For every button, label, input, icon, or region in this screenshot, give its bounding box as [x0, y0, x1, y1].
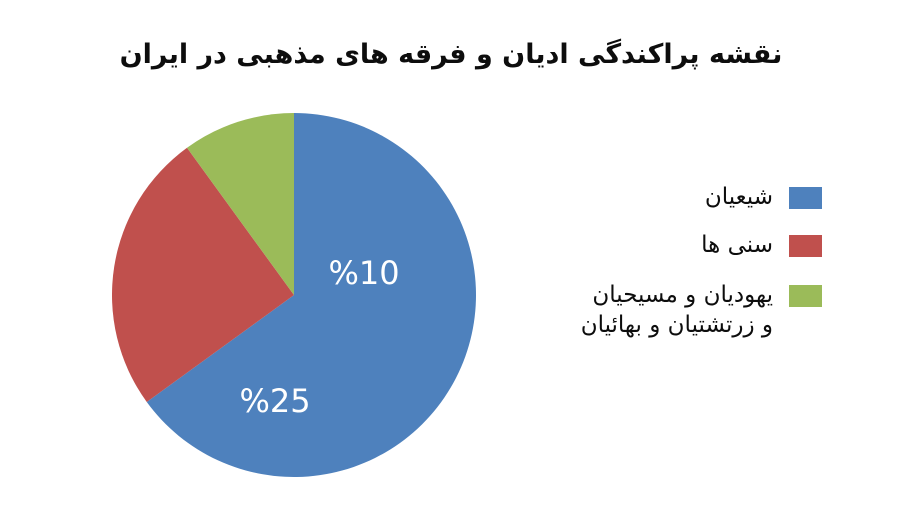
- slice-label-shia: %65: [448, 441, 519, 479]
- pie-chart-figure: نقشه پراکندگی ادیان و فرقه های مذهبی در …: [0, 0, 902, 527]
- legend-swatch-minorities-icon: [789, 285, 822, 307]
- legend-label-line: یهودیان و مسیحیان: [470, 280, 773, 310]
- legend-label-line: سنی ها: [470, 230, 773, 260]
- pie-svg: [112, 113, 476, 477]
- chart-legend: شیعیان سنی ها یهودیان و مسیحیان و زرتشتی…: [470, 180, 822, 348]
- legend-label-line: شیعیان: [470, 182, 773, 212]
- slice-label-sunni: %25: [239, 382, 310, 420]
- legend-label-line: و زرتشتیان و بهائیان: [470, 310, 773, 340]
- legend-item-sunni[interactable]: سنی ها: [470, 228, 822, 278]
- chart-title: نقشه پراکندگی ادیان و فرقه های مذهبی در …: [0, 38, 902, 72]
- legend-label-sunni: سنی ها: [470, 228, 773, 260]
- slice-label-minorities: %10: [328, 254, 399, 292]
- legend-swatch-sunni-icon: [789, 235, 822, 257]
- legend-label-shia: شیعیان: [470, 180, 773, 212]
- legend-label-minorities: یهودیان و مسیحیان و زرتشتیان و بهائیان: [470, 278, 773, 340]
- pie-plot-area: %65 %25 %10: [112, 113, 476, 477]
- legend-item-shia[interactable]: شیعیان: [470, 180, 822, 228]
- pie-slices-group: [112, 113, 476, 477]
- legend-item-minorities[interactable]: یهودیان و مسیحیان و زرتشتیان و بهائیان: [470, 278, 822, 348]
- legend-swatch-shia-icon: [789, 187, 822, 209]
